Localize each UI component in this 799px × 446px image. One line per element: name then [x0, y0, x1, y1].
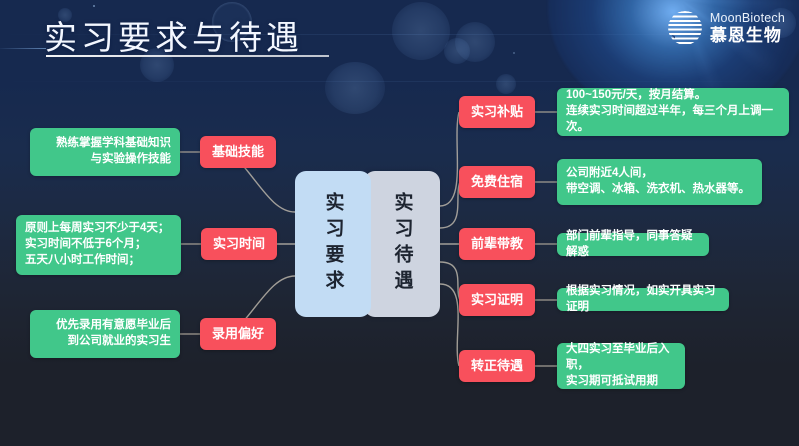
branch-label-hiring-preference[interactable]: 录用偏好 — [200, 318, 276, 350]
center-card-requirements[interactable]: 实习要求 — [295, 171, 371, 317]
branch-label-internship-certificate[interactable]: 实习证明 — [459, 284, 535, 316]
detail-box-mentorship: 部门前辈指导，同事答疑解惑 — [557, 233, 709, 256]
branch-label-basic-skills[interactable]: 基础技能 — [200, 136, 276, 168]
slide-canvas: 实习要求与待遇 MoonBiotech 慕恩生物 — [0, 0, 799, 446]
mindmap-center-node: 实习要求 实习待遇 — [295, 171, 440, 317]
detail-box-internship-certificate: 根据实习情况，如实开具实习证明 — [557, 288, 729, 311]
branch-label-internship-duration[interactable]: 实习时间 — [201, 228, 277, 260]
detail-box-stipend: 100~150元/天，按月结算。 连续实习时间超过半年，每三个月上调一次。 — [557, 88, 789, 136]
detail-box-conversion-benefits: 大四实习至毕业后入职， 实习期可抵试用期 — [557, 343, 685, 389]
detail-box-hiring-preference: 优先录用有意愿毕业后 到公司就业的实习生 — [30, 310, 180, 358]
detail-box-basic-skills: 熟练掌握学科基础知识 与实验操作技能 — [30, 128, 180, 176]
branch-label-free-housing[interactable]: 免费住宿 — [459, 166, 535, 198]
branch-label-conversion-benefits[interactable]: 转正待遇 — [459, 350, 535, 382]
branch-label-mentorship[interactable]: 前辈带教 — [459, 228, 535, 260]
center-card-benefits[interactable]: 实习待遇 — [364, 171, 440, 317]
detail-box-free-housing: 公司附近4人间， 带空调、冰箱、洗衣机、热水器等。 — [557, 159, 762, 205]
branch-label-stipend[interactable]: 实习补贴 — [459, 96, 535, 128]
detail-box-internship-duration: 原则上每周实习不少于4天； 实习时间不低于6个月； 五天八小时工作时间； — [16, 215, 181, 275]
